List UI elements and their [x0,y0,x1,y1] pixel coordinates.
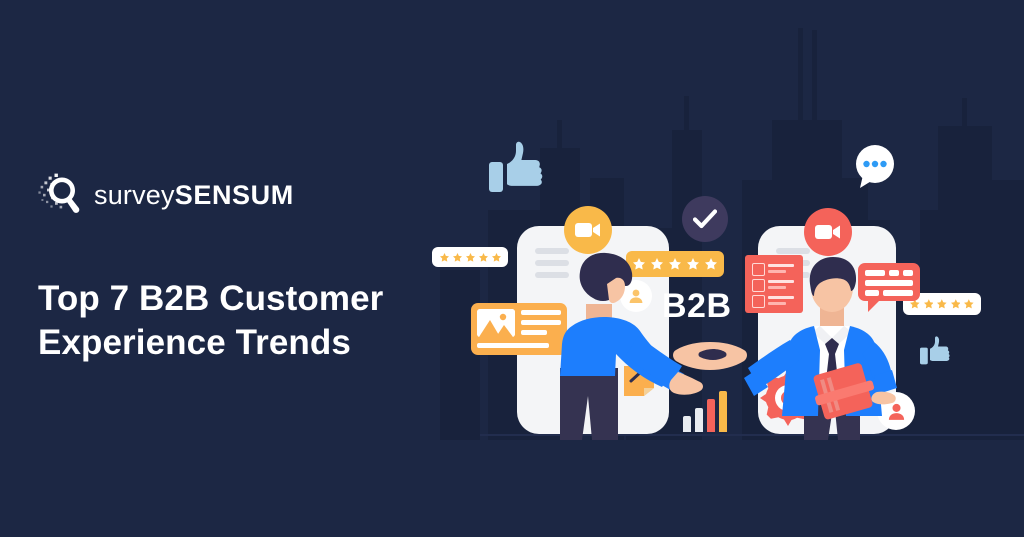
banner-root: surveySENSUM Top 7 B2B Customer Experien… [0,0,1024,537]
hero-illustration: B2B [0,0,1024,537]
thumbs-up-icon [489,140,543,196]
star-icon [466,253,475,262]
star-icon [492,253,501,262]
handshake-icon [672,336,748,378]
video-camera-glyph [575,221,601,239]
star-icon [479,253,488,262]
star-icon [951,299,961,309]
star-icon [453,253,462,262]
check-circle-icon [682,196,728,242]
video-camera-glyph [815,223,841,241]
star-rating-badge-left [432,247,508,267]
chat-dots-bubble-icon [854,145,898,191]
bar-chart-icon [683,388,727,432]
image-placeholder-icon [477,309,515,337]
star-icon [964,299,974,309]
briefcase-icon [812,360,876,422]
b2b-label: B2B [662,287,732,326]
star-icon [440,253,449,262]
video-camera-icon [564,206,612,254]
check-icon [693,209,717,229]
